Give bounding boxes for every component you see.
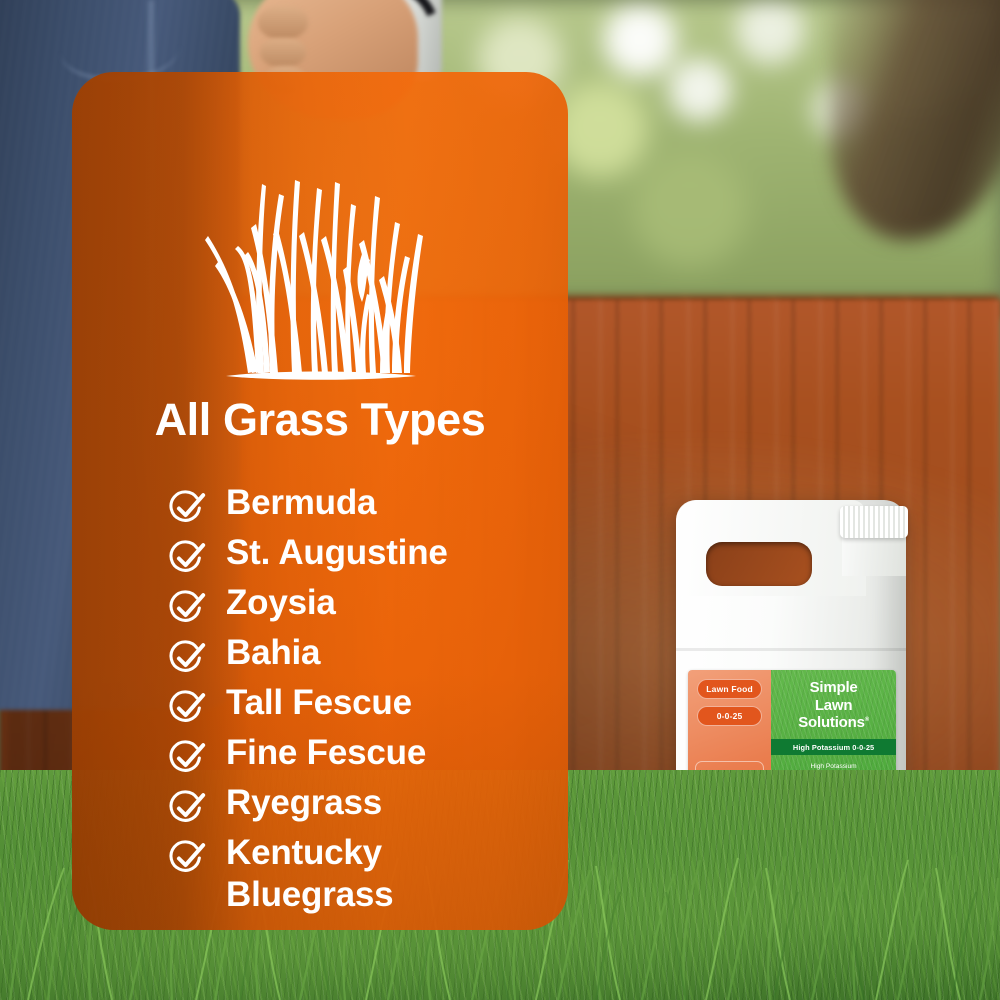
tree-trunk (830, 0, 1000, 240)
list-item-label: St. Augustine (226, 532, 448, 574)
list-item: Tall Fescue (168, 682, 554, 727)
list-item-label: Tall Fescue (226, 682, 412, 724)
brand-line: Simple (798, 679, 869, 697)
list-item: Kentucky Bluegrass (168, 832, 554, 916)
check-circle-icon (168, 839, 206, 877)
page-title: All Grass Types (72, 394, 568, 446)
brand-line: Solutions (798, 714, 865, 731)
list-item: Zoysia (168, 582, 554, 627)
list-item: Bahia (168, 632, 554, 677)
brand-line: Lawn (798, 697, 869, 715)
bottle-seam (676, 648, 906, 651)
check-circle-icon (168, 789, 206, 827)
list-item-label: Zoysia (226, 582, 336, 624)
hand-finger (258, 6, 308, 40)
list-item-label: Kentucky Bluegrass (226, 832, 393, 916)
check-circle-icon (168, 489, 206, 527)
list-item: Ryegrass (168, 782, 554, 827)
grass-types-panel: All Grass Types Bermuda St. Augustine (72, 72, 568, 930)
check-circle-icon (168, 689, 206, 727)
registered-trademark-icon: ® (865, 717, 869, 723)
hand-finger (260, 38, 306, 68)
check-circle-icon (168, 539, 206, 577)
list-item-label: Fine Fescue (226, 732, 426, 774)
bottle-handle (706, 542, 812, 586)
list-item-label: Bermuda (226, 482, 376, 524)
brand-line-with-trademark: Solutions® (798, 714, 869, 732)
grass-clump-icon (204, 180, 436, 385)
check-circle-icon (168, 639, 206, 677)
jeans-pocket (60, 10, 180, 80)
list-item: Fine Fescue (168, 732, 554, 777)
grass-types-list: Bermuda St. Augustine Zoysia (168, 482, 554, 921)
check-circle-icon (168, 589, 206, 627)
list-item-label: Ryegrass (226, 782, 382, 824)
label-pill-npk: 0-0-25 (697, 706, 762, 726)
label-pill-lawn-food: Lawn Food (697, 679, 762, 699)
list-item: St. Augustine (168, 532, 554, 577)
brand-name: Simple Lawn Solutions® (798, 679, 869, 732)
list-item-label: Bahia (226, 632, 320, 674)
panel-content: All Grass Types Bermuda St. Augustine (72, 72, 568, 930)
bottle-cap (840, 506, 908, 538)
list-item: Bermuda (168, 482, 554, 527)
check-circle-icon (168, 739, 206, 777)
